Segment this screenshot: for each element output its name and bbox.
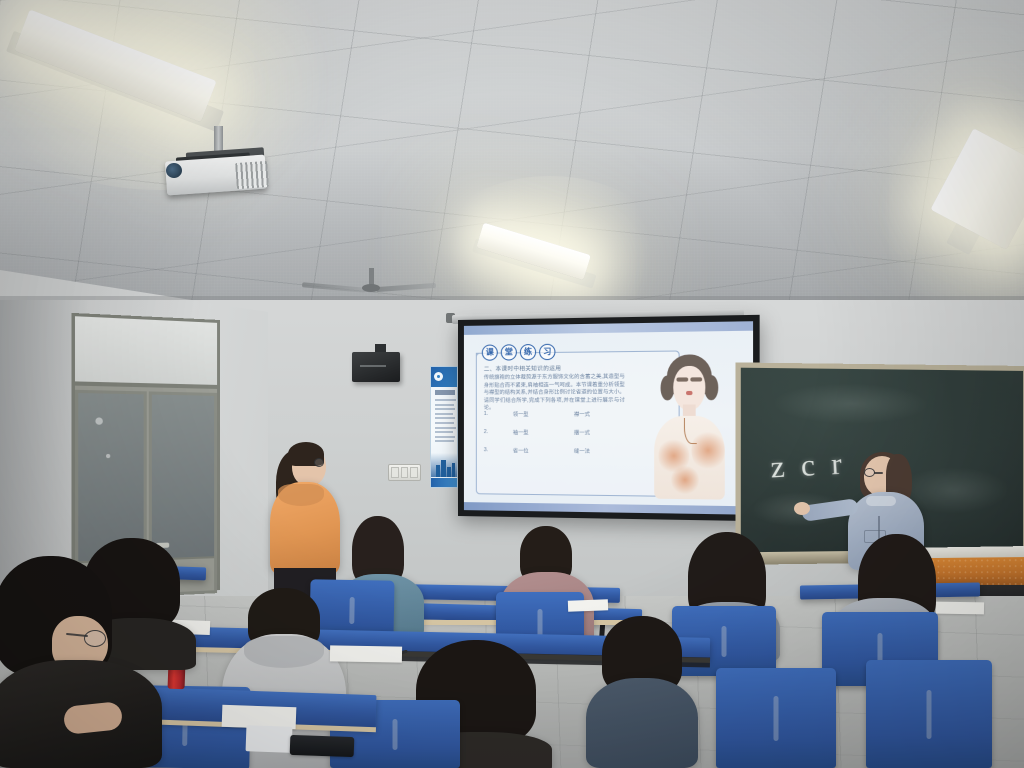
worksheet [568, 599, 608, 611]
slide-title-badges: 课 堂 练 习 [482, 344, 556, 361]
illustration-lips [687, 391, 692, 395]
qipao-woman-illustration [644, 351, 736, 500]
door-glass-glint [106, 454, 110, 458]
slide-body: 课 堂 练 习 二、本课时中相关知识的运用 传统旗袍的立体裁剪源于东方服饰文化的… [464, 331, 753, 507]
exercise-number: 1. [484, 411, 493, 418]
slide-text-column: 课 堂 练 习 二、本课时中相关知识的运用 传统旗袍的立体裁剪源于东方服饰文化的… [474, 339, 635, 505]
slide-badge: 习 [539, 344, 555, 360]
worksheet [936, 602, 984, 615]
projection-screen: 课 堂 练 习 二、本课时中相关知识的运用 传统旗袍的立体裁剪源于东方服饰文化的… [458, 315, 760, 521]
tissue-pack[interactable] [246, 725, 293, 753]
light-switch-panel[interactable] [388, 464, 421, 481]
light-switch-key[interactable] [410, 467, 418, 478]
light-switch-key[interactable] [391, 467, 399, 478]
chair [866, 660, 992, 768]
exercise-number: 2. [484, 429, 493, 436]
exercise-option-b: 襟一式 [574, 411, 590, 418]
ceiling-fan-hub [362, 284, 380, 292]
slide-exercise-list: 1. 领一型 襟一式 2. 袖一型 摆一式 3. 省一位 [484, 411, 629, 467]
wall-speaker [352, 352, 400, 382]
slide-badge: 堂 [501, 344, 517, 360]
poster-title-bar [435, 390, 455, 395]
worksheet [330, 645, 402, 662]
speaker-slit [360, 365, 386, 367]
illustration-hair-bun-right [704, 375, 718, 400]
wall-ceiling-trim [0, 296, 1024, 300]
ceiling-texture [0, 0, 1024, 340]
door-transom-window [75, 316, 217, 389]
projector-vent [235, 161, 269, 189]
smartphone[interactable] [290, 735, 355, 757]
slide-exercise-row: 2. 袖一型 摆一式 [484, 429, 629, 436]
classroom-photo: 课 堂 练 习 二、本课时中相关知识的运用 传统旗袍的立体裁剪源于东方服饰文化的… [0, 0, 1024, 768]
student-row2-right-top [586, 678, 698, 768]
slide-badge: 练 [520, 344, 536, 360]
projected-slide: 课 堂 练 习 二、本课时中相关知识的运用 传统旗袍的立体裁剪源于东方服饰文化的… [464, 321, 753, 515]
slide-exercise-row: 3. 省一位 缝一法 [484, 447, 629, 455]
teacher-glasses-arm [874, 472, 883, 474]
exercise-option-a: 袖一型 [513, 429, 554, 436]
student-front-left [0, 556, 150, 768]
projection-screen-surface: 课 堂 练 习 二、本课时中相关知识的运用 传统旗袍的立体裁剪源于东方服饰文化的… [464, 321, 753, 515]
slide-paragraph: 传统旗袍的立体裁剪源于东方服饰文化的含蓄之美,其造型与身形贴合而不紧束,肩袖相连… [484, 374, 625, 413]
exercise-option-a: 省一位 [513, 447, 554, 454]
student-front-left-glasses [84, 630, 106, 647]
exercise-option-b: 缝一法 [574, 448, 590, 455]
ceiling [0, 0, 1024, 340]
exercise-option-a: 领一型 [513, 411, 554, 418]
exercise-number: 3. [484, 447, 493, 454]
light-switch-key[interactable] [401, 467, 409, 478]
slide-illustration-column [635, 337, 744, 506]
poster-logo-icon [434, 372, 443, 381]
illustration-floral-motif [691, 428, 724, 473]
standing-student-glasses [314, 458, 324, 467]
teacher-hand [794, 502, 810, 515]
illustration-hair-bun-left [661, 375, 675, 400]
slide-badge: 课 [482, 344, 498, 360]
student-row2-right [586, 616, 696, 768]
poster-header [431, 367, 457, 387]
exercise-option-b: 摆一式 [574, 429, 590, 436]
teacher-collar [866, 496, 896, 506]
illustration-eye-right [690, 378, 702, 382]
hoodie-hood [278, 484, 324, 506]
slide-heading: 二、本课时中相关知识的运用 [484, 364, 561, 373]
slide-exercise-row: 1. 领一型 襟一式 [484, 411, 629, 418]
hoodie-hood [244, 636, 324, 668]
illustration-floral-motif [671, 463, 698, 496]
wall-poster [430, 366, 458, 488]
chair [716, 668, 836, 768]
door-glass-glint [95, 418, 102, 425]
poster-text-lines [435, 399, 456, 445]
illustration-eye-left [676, 378, 688, 382]
poster-footer [431, 478, 457, 487]
